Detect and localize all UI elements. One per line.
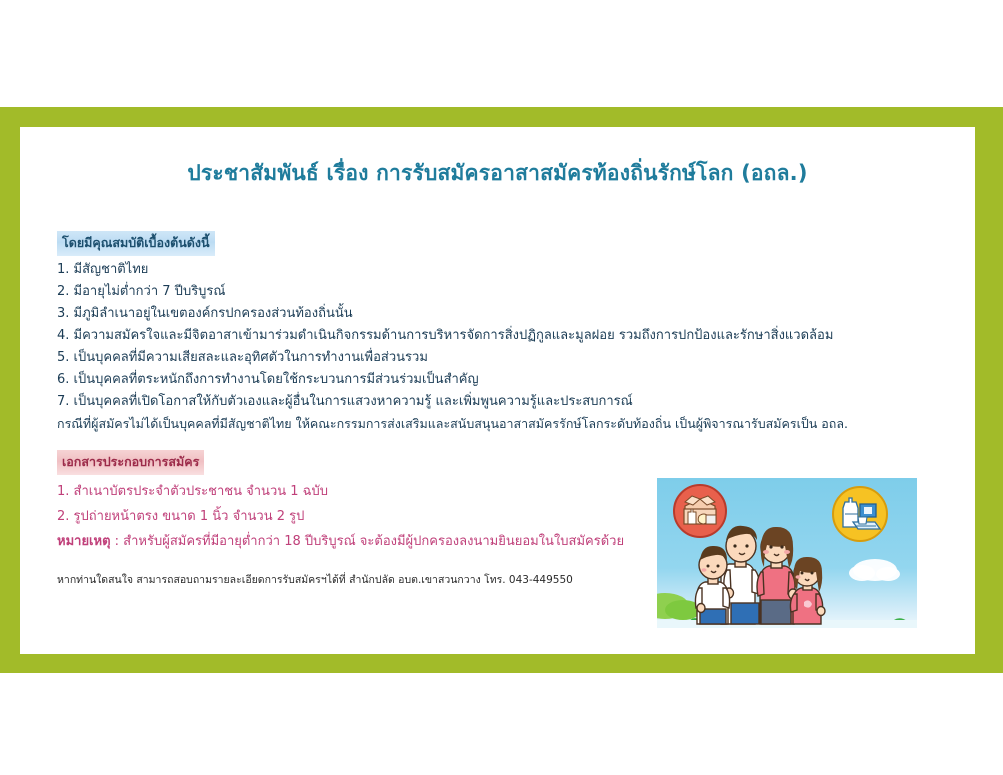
red-circle-general-waste-icon xyxy=(674,485,726,537)
qualification-list: 1. มีสัญชาติไทย 2. มีอายุไม่ต่ำกว่า 7 ปี… xyxy=(57,259,848,435)
contact-row: หากท่านใดสนใจ สามารถสอบถามรายละเอียดการร… xyxy=(57,572,573,588)
yellow-circle-recyclable-waste-icon xyxy=(833,487,887,541)
list-item: 2. รูปถ่ายหน้าตรง ขนาด 1 นิ้ว จำนวน 2 รู… xyxy=(57,504,624,529)
qualification-note: กรณีที่ผู้สมัครไม่ได้เป็นบุคคลที่มีสัญชา… xyxy=(57,413,848,435)
contact-line: หากท่านใดสนใจ สามารถสอบถามรายละเอียดการร… xyxy=(57,572,573,588)
remark-row: หมายเหตุ : สำหรับผู้สมัครที่มีอายุต่ำกว่… xyxy=(57,529,624,554)
page-title: ประชาสัมพันธ์ เรื่อง การรับสมัครอาสาสมัค… xyxy=(20,157,975,190)
poster-white-page: ประชาสัมพันธ์ เรื่อง การรับสมัครอาสาสมัค… xyxy=(20,127,975,654)
remark-label: หมายเหตุ xyxy=(57,534,111,549)
documents-heading-row: เอกสารประกอบการสมัคร xyxy=(57,450,204,475)
list-item: 3. มีภูมิลำเนาอยู่ในเขตองค์กรปกครองส่วนท… xyxy=(57,303,848,325)
qualification-heading-row: โดยมีคุณสมบัติเบื้องต้นดังนี้ xyxy=(57,231,215,256)
list-item: 7. เป็นบุคคลที่เปิดโอกาสให้กับตัวเองและผ… xyxy=(57,391,848,413)
poster-green-frame: ประชาสัมพันธ์ เรื่อง การรับสมัครอาสาสมัค… xyxy=(0,107,1003,673)
list-item: 1. มีสัญชาติไทย xyxy=(57,259,848,281)
list-item: 1. สำเนาบัตรประจำตัวประชาชน จำนวน 1 ฉบับ xyxy=(57,479,624,504)
documents-list: 1. สำเนาบัตรประจำตัวประชาชน จำนวน 1 ฉบับ… xyxy=(57,479,624,554)
remark-text: : สำหรับผู้สมัครที่มีอายุต่ำกว่า 18 ปีบร… xyxy=(111,534,625,549)
list-item: 4. มีความสมัครใจและมีจิตอาสาเข้ามาร่วมดำ… xyxy=(57,325,848,347)
list-item: 6. เป็นบุคคลที่ตระหนักถึงการทำงานโดยใช้ก… xyxy=(57,369,848,391)
qualification-heading: โดยมีคุณสมบัติเบื้องต้นดังนี้ xyxy=(57,231,215,256)
list-item: 5. เป็นบุคคลที่มีความเสียสละและอุทิศตัวใ… xyxy=(57,347,848,369)
boy-figure xyxy=(695,546,729,624)
documents-heading: เอกสารประกอบการสมัคร xyxy=(57,450,204,475)
list-item: 2. มีอายุไม่ต่ำกว่า 7 ปีบริบูรณ์ xyxy=(57,281,848,303)
family-waste-sorting-illustration xyxy=(657,478,917,628)
